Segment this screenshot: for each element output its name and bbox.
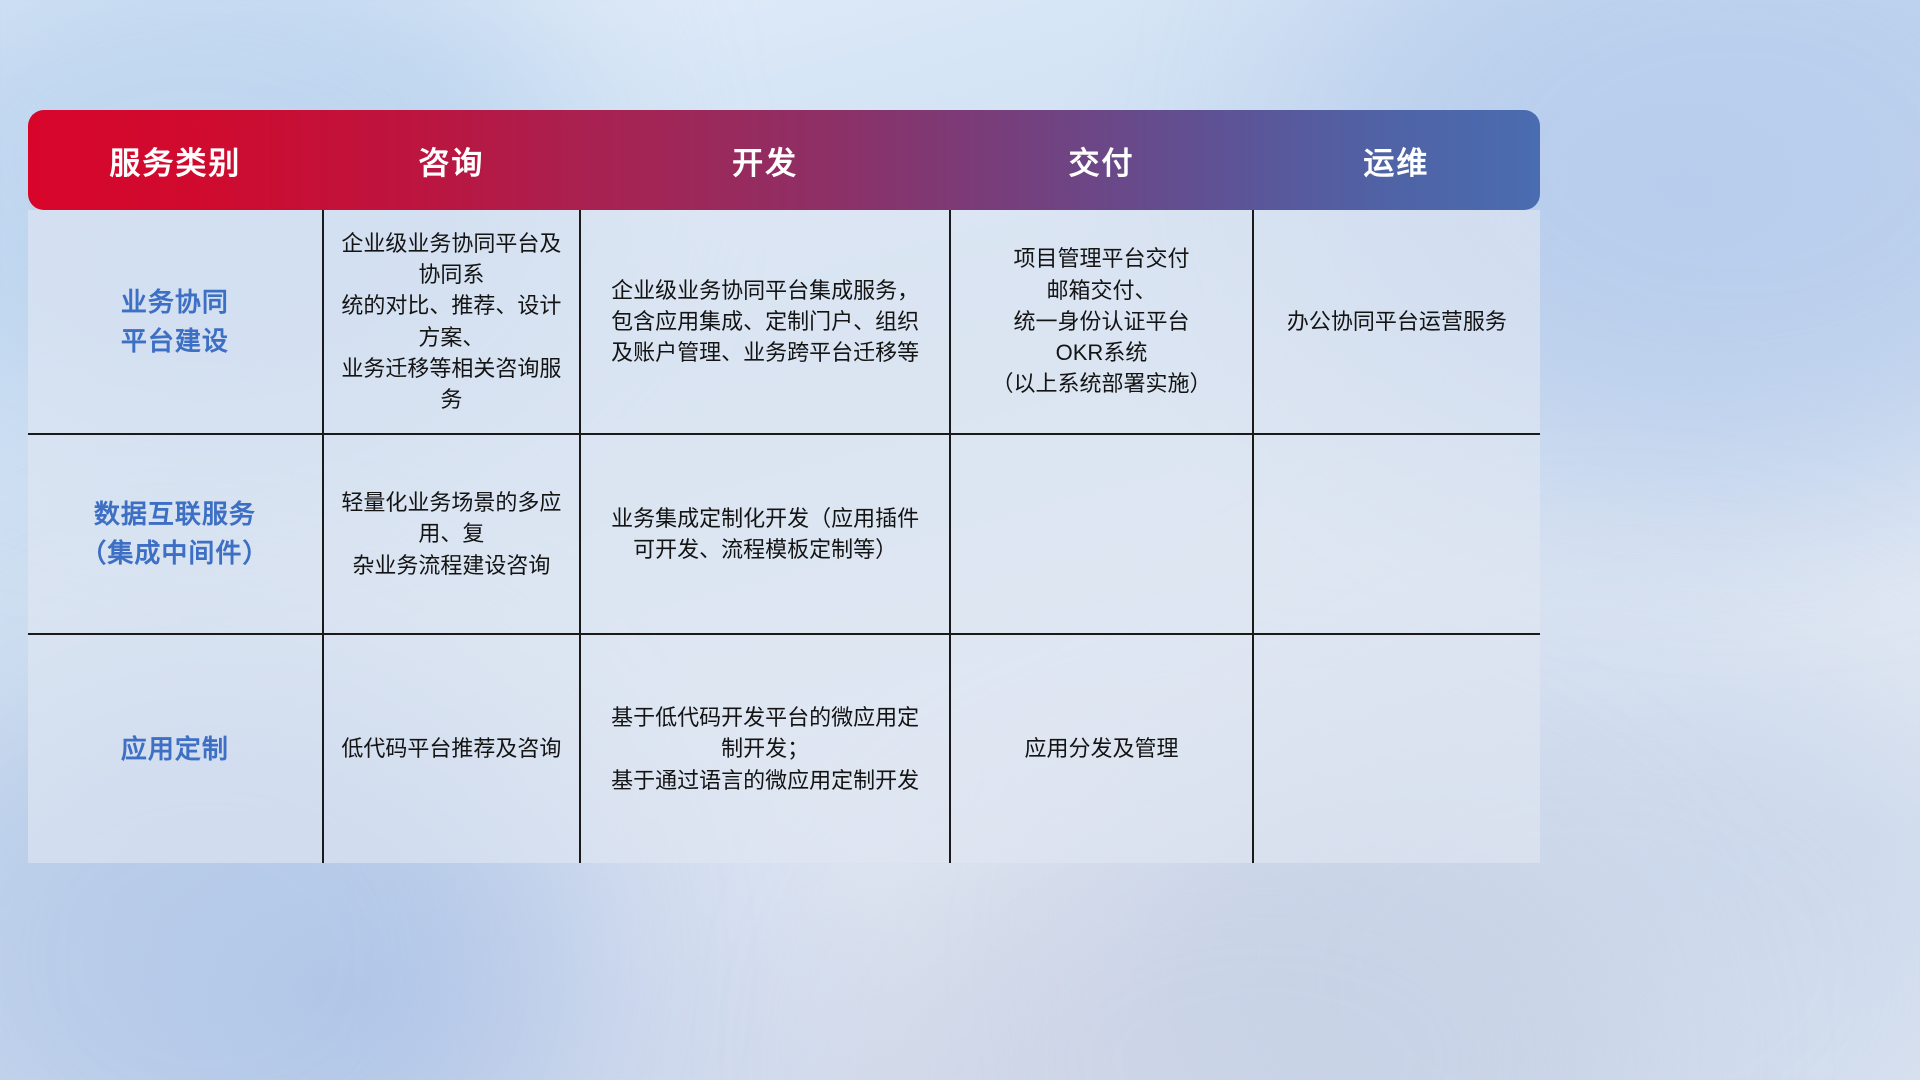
table-row: 业务协同 平台建设 企业级业务协同平台及协同系 统的对比、推荐、设计方案、 业务… xyxy=(28,210,1540,434)
row-2-consulting: 轻量化业务场景的多应用、复 杂业务流程建设咨询 xyxy=(323,434,580,634)
row-1-operations: 办公协同平台运营服务 xyxy=(1253,210,1540,434)
row-2-delivery xyxy=(950,434,1252,634)
table-row: 应用定制 低代码平台推荐及咨询 基于低代码开发平台的微应用定 制开发； 基于通过… xyxy=(28,634,1540,863)
service-matrix-table-wrapper: 服务类别 咨询 开发 交付 运维 业务协同 平台建设 企业级业务协同平台及协同系… xyxy=(28,110,1540,863)
row-3-development: 基于低代码开发平台的微应用定 制开发； 基于通过语言的微应用定制开发 xyxy=(580,634,950,863)
column-header-service-category: 服务类别 xyxy=(28,110,323,210)
slide-canvas: 服务类别 咨询 开发 交付 运维 业务协同 平台建设 企业级业务协同平台及协同系… xyxy=(0,0,1920,1080)
row-3-consulting: 低代码平台推荐及咨询 xyxy=(323,634,580,863)
service-matrix-table: 服务类别 咨询 开发 交付 运维 业务协同 平台建设 企业级业务协同平台及协同系… xyxy=(28,110,1540,863)
row-3-category: 应用定制 xyxy=(28,634,323,863)
row-3-delivery: 应用分发及管理 xyxy=(950,634,1252,863)
row-2-development: 业务集成定制化开发（应用插件 可开发、流程模板定制等） xyxy=(580,434,950,634)
column-header-operations: 运维 xyxy=(1253,110,1540,210)
row-2-category: 数据互联服务 （集成中间件） xyxy=(28,434,323,634)
row-3-operations xyxy=(1253,634,1540,863)
row-1-category: 业务协同 平台建设 xyxy=(28,210,323,434)
table-body: 业务协同 平台建设 企业级业务协同平台及协同系 统的对比、推荐、设计方案、 业务… xyxy=(28,210,1540,863)
table-header: 服务类别 咨询 开发 交付 运维 xyxy=(28,110,1540,210)
header-row: 服务类别 咨询 开发 交付 运维 xyxy=(28,110,1540,210)
row-2-operations xyxy=(1253,434,1540,634)
column-header-consulting: 咨询 xyxy=(323,110,580,210)
row-1-delivery: 项目管理平台交付 邮箱交付、 统一身份认证平台 OKR系统 （以上系统部署实施） xyxy=(950,210,1252,434)
row-1-consulting: 企业级业务协同平台及协同系 统的对比、推荐、设计方案、 业务迁移等相关咨询服务 xyxy=(323,210,580,434)
table-row: 数据互联服务 （集成中间件） 轻量化业务场景的多应用、复 杂业务流程建设咨询 业… xyxy=(28,434,1540,634)
column-header-delivery: 交付 xyxy=(950,110,1252,210)
row-1-development: 企业级业务协同平台集成服务， 包含应用集成、定制门户、组织 及账户管理、业务跨平… xyxy=(580,210,950,434)
column-header-development: 开发 xyxy=(580,110,950,210)
